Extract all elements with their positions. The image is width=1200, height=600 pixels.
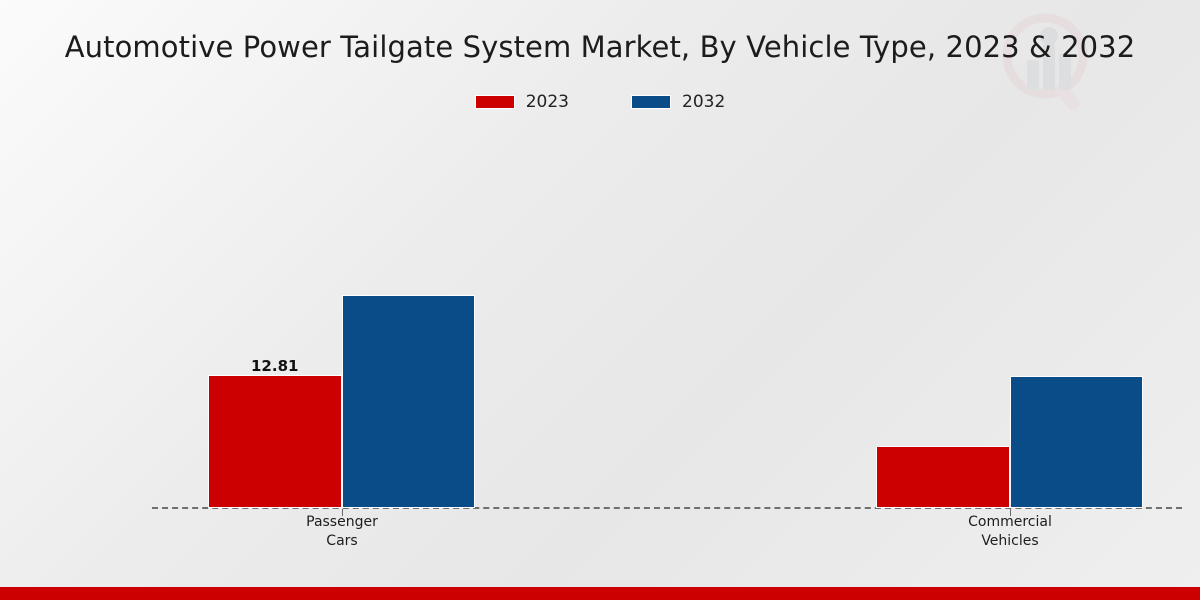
bar-label-2023-passenger-cars: 12.81 (251, 357, 298, 375)
x-axis-label-passenger-cars: Passenger Cars (232, 513, 452, 551)
bar-2023-commercial-vehicles[interactable] (876, 446, 1010, 508)
bar-2023-passenger-cars[interactable] (208, 375, 342, 508)
x-axis-label-commercial-vehicles-line2: Vehicles (900, 532, 1120, 551)
x-axis-label-passenger-cars-line1: Passenger (232, 513, 452, 532)
x-axis-label-passenger-cars-line2: Cars (232, 532, 452, 551)
bar-2032-commercial-vehicles[interactable] (1010, 376, 1143, 508)
x-axis-label-commercial-vehicles: Commercial Vehicles (900, 513, 1120, 551)
bar-2032-passenger-cars[interactable] (342, 295, 475, 508)
chart-container: Automotive Power Tailgate System Market,… (0, 0, 1200, 600)
plot-area: 12.81 Passenger Cars Commercial Vehicles (0, 0, 1200, 600)
x-axis-label-commercial-vehicles-line1: Commercial (900, 513, 1120, 532)
footer-accent-bar (0, 587, 1200, 600)
